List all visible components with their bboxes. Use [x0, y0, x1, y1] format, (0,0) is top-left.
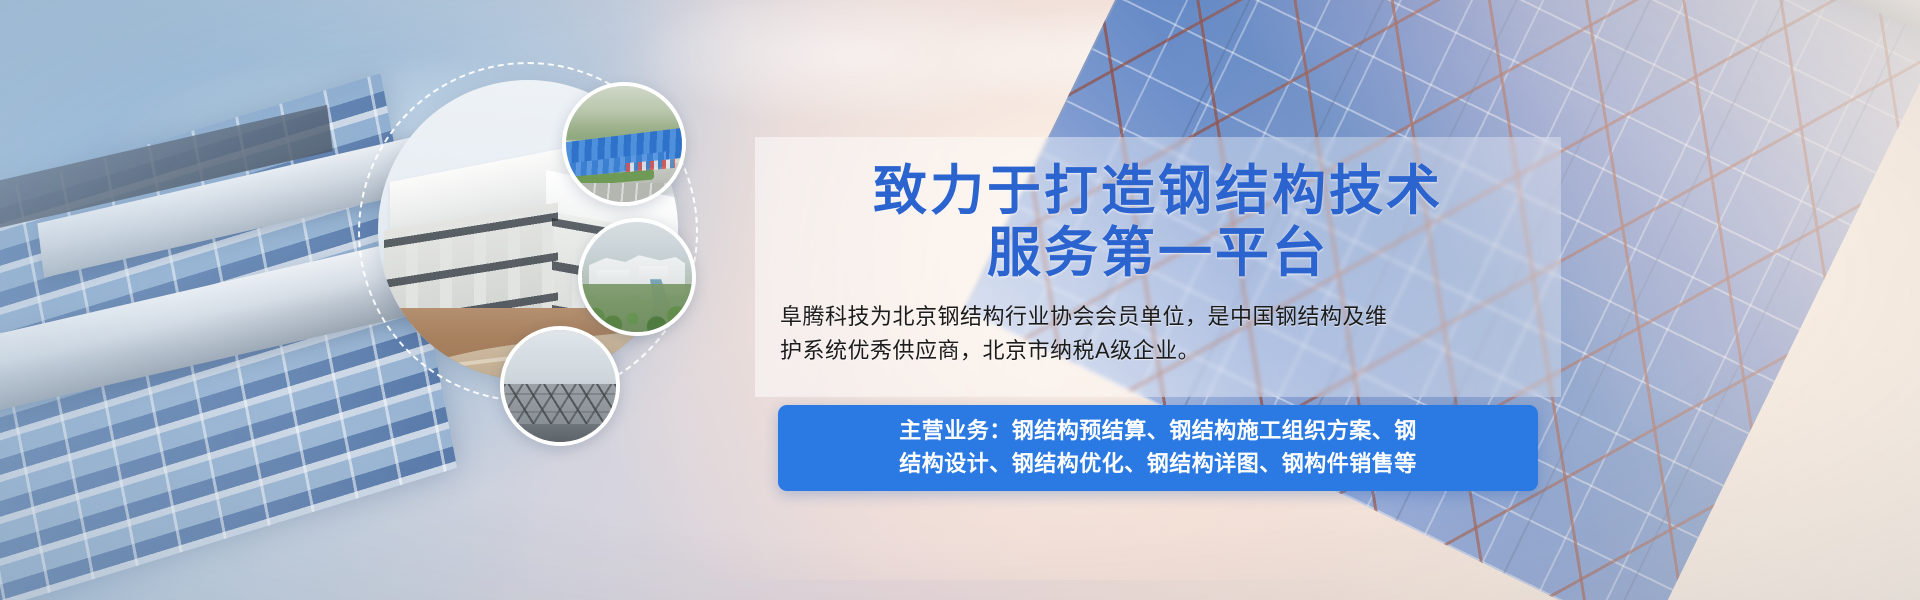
collage-circle-space-frame [500, 326, 620, 446]
tree-canopy [582, 284, 692, 332]
main-business-callout: 主营业务：钢结构预结算、钢结构施工组织方案、钢 结构设计、钢结构优化、钢结构详图… [778, 405, 1538, 491]
company-description: 阜腾科技为北京钢结构行业协会会员单位，是中国钢结构及维 护系统优秀供应商，北京市… [780, 300, 1540, 368]
headline-line-2: 服务第一平台 [755, 222, 1561, 284]
headline-line-1: 致力于打造钢结构技术 [755, 160, 1561, 222]
structure-base [504, 424, 616, 442]
description-line-1: 阜腾科技为北京钢结构行业协会会员单位，是中国钢结构及维 [780, 300, 1540, 334]
collage-circle-aerial-factory [562, 82, 686, 206]
page-title: 致力于打造钢结构技术 服务第一平台 [755, 160, 1561, 284]
business-line-2: 结构设计、钢结构优化、钢结构详图、钢构件销售等 [796, 447, 1520, 480]
business-line-1: 主营业务：钢结构预结算、钢结构施工组织方案、钢 [796, 414, 1520, 447]
hero-banner: 致力于打造钢结构技术 服务第一平台 阜腾科技为北京钢结构行业协会会员单位，是中国… [0, 0, 1920, 600]
parking-lot [566, 183, 682, 202]
circular-photo-collage [356, 62, 776, 482]
description-line-2: 护系统优秀供应商，北京市纳税A级企业。 [780, 334, 1540, 368]
collage-circle-aerial-campus [578, 218, 696, 336]
